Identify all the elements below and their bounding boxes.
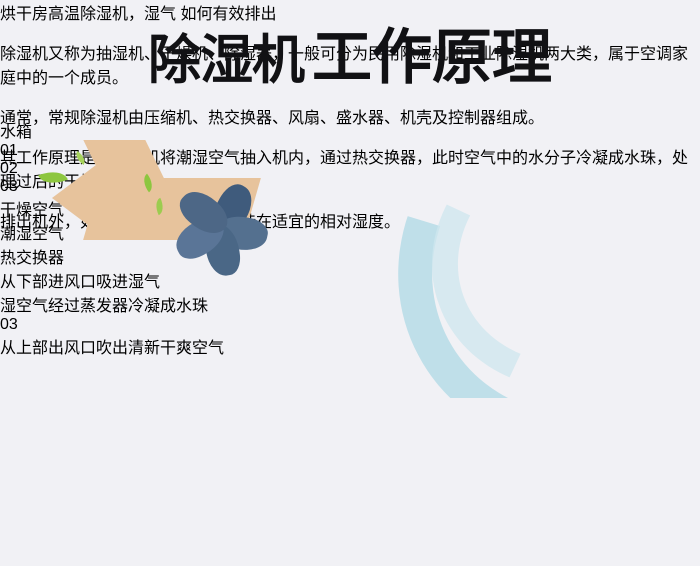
page-title-part-two: 工作原理: [312, 24, 552, 91]
page-title: 除湿机工作原理: [0, 28, 700, 88]
overlay-headline-line-1: 烘干房高温除湿机，湿气: [0, 6, 176, 23]
dry-air-arrow-head: [52, 156, 108, 240]
overlay-headline: 烘干房高温除湿机，湿气 如何有效排出: [0, 0, 700, 24]
principle-illustration: 水箱 01 02 03 干燥空气 潮湿空气 热交换器 从下部进风口吸进湿气 湿空…: [0, 118, 700, 398]
fan-illustration: [168, 164, 286, 272]
page-title-part-one: 除湿机: [148, 31, 304, 90]
overlay-headline-line-2: 如何有效排出: [180, 6, 276, 23]
dehumidifier-principle-page: 除湿机工作原理: [0, 0, 700, 566]
